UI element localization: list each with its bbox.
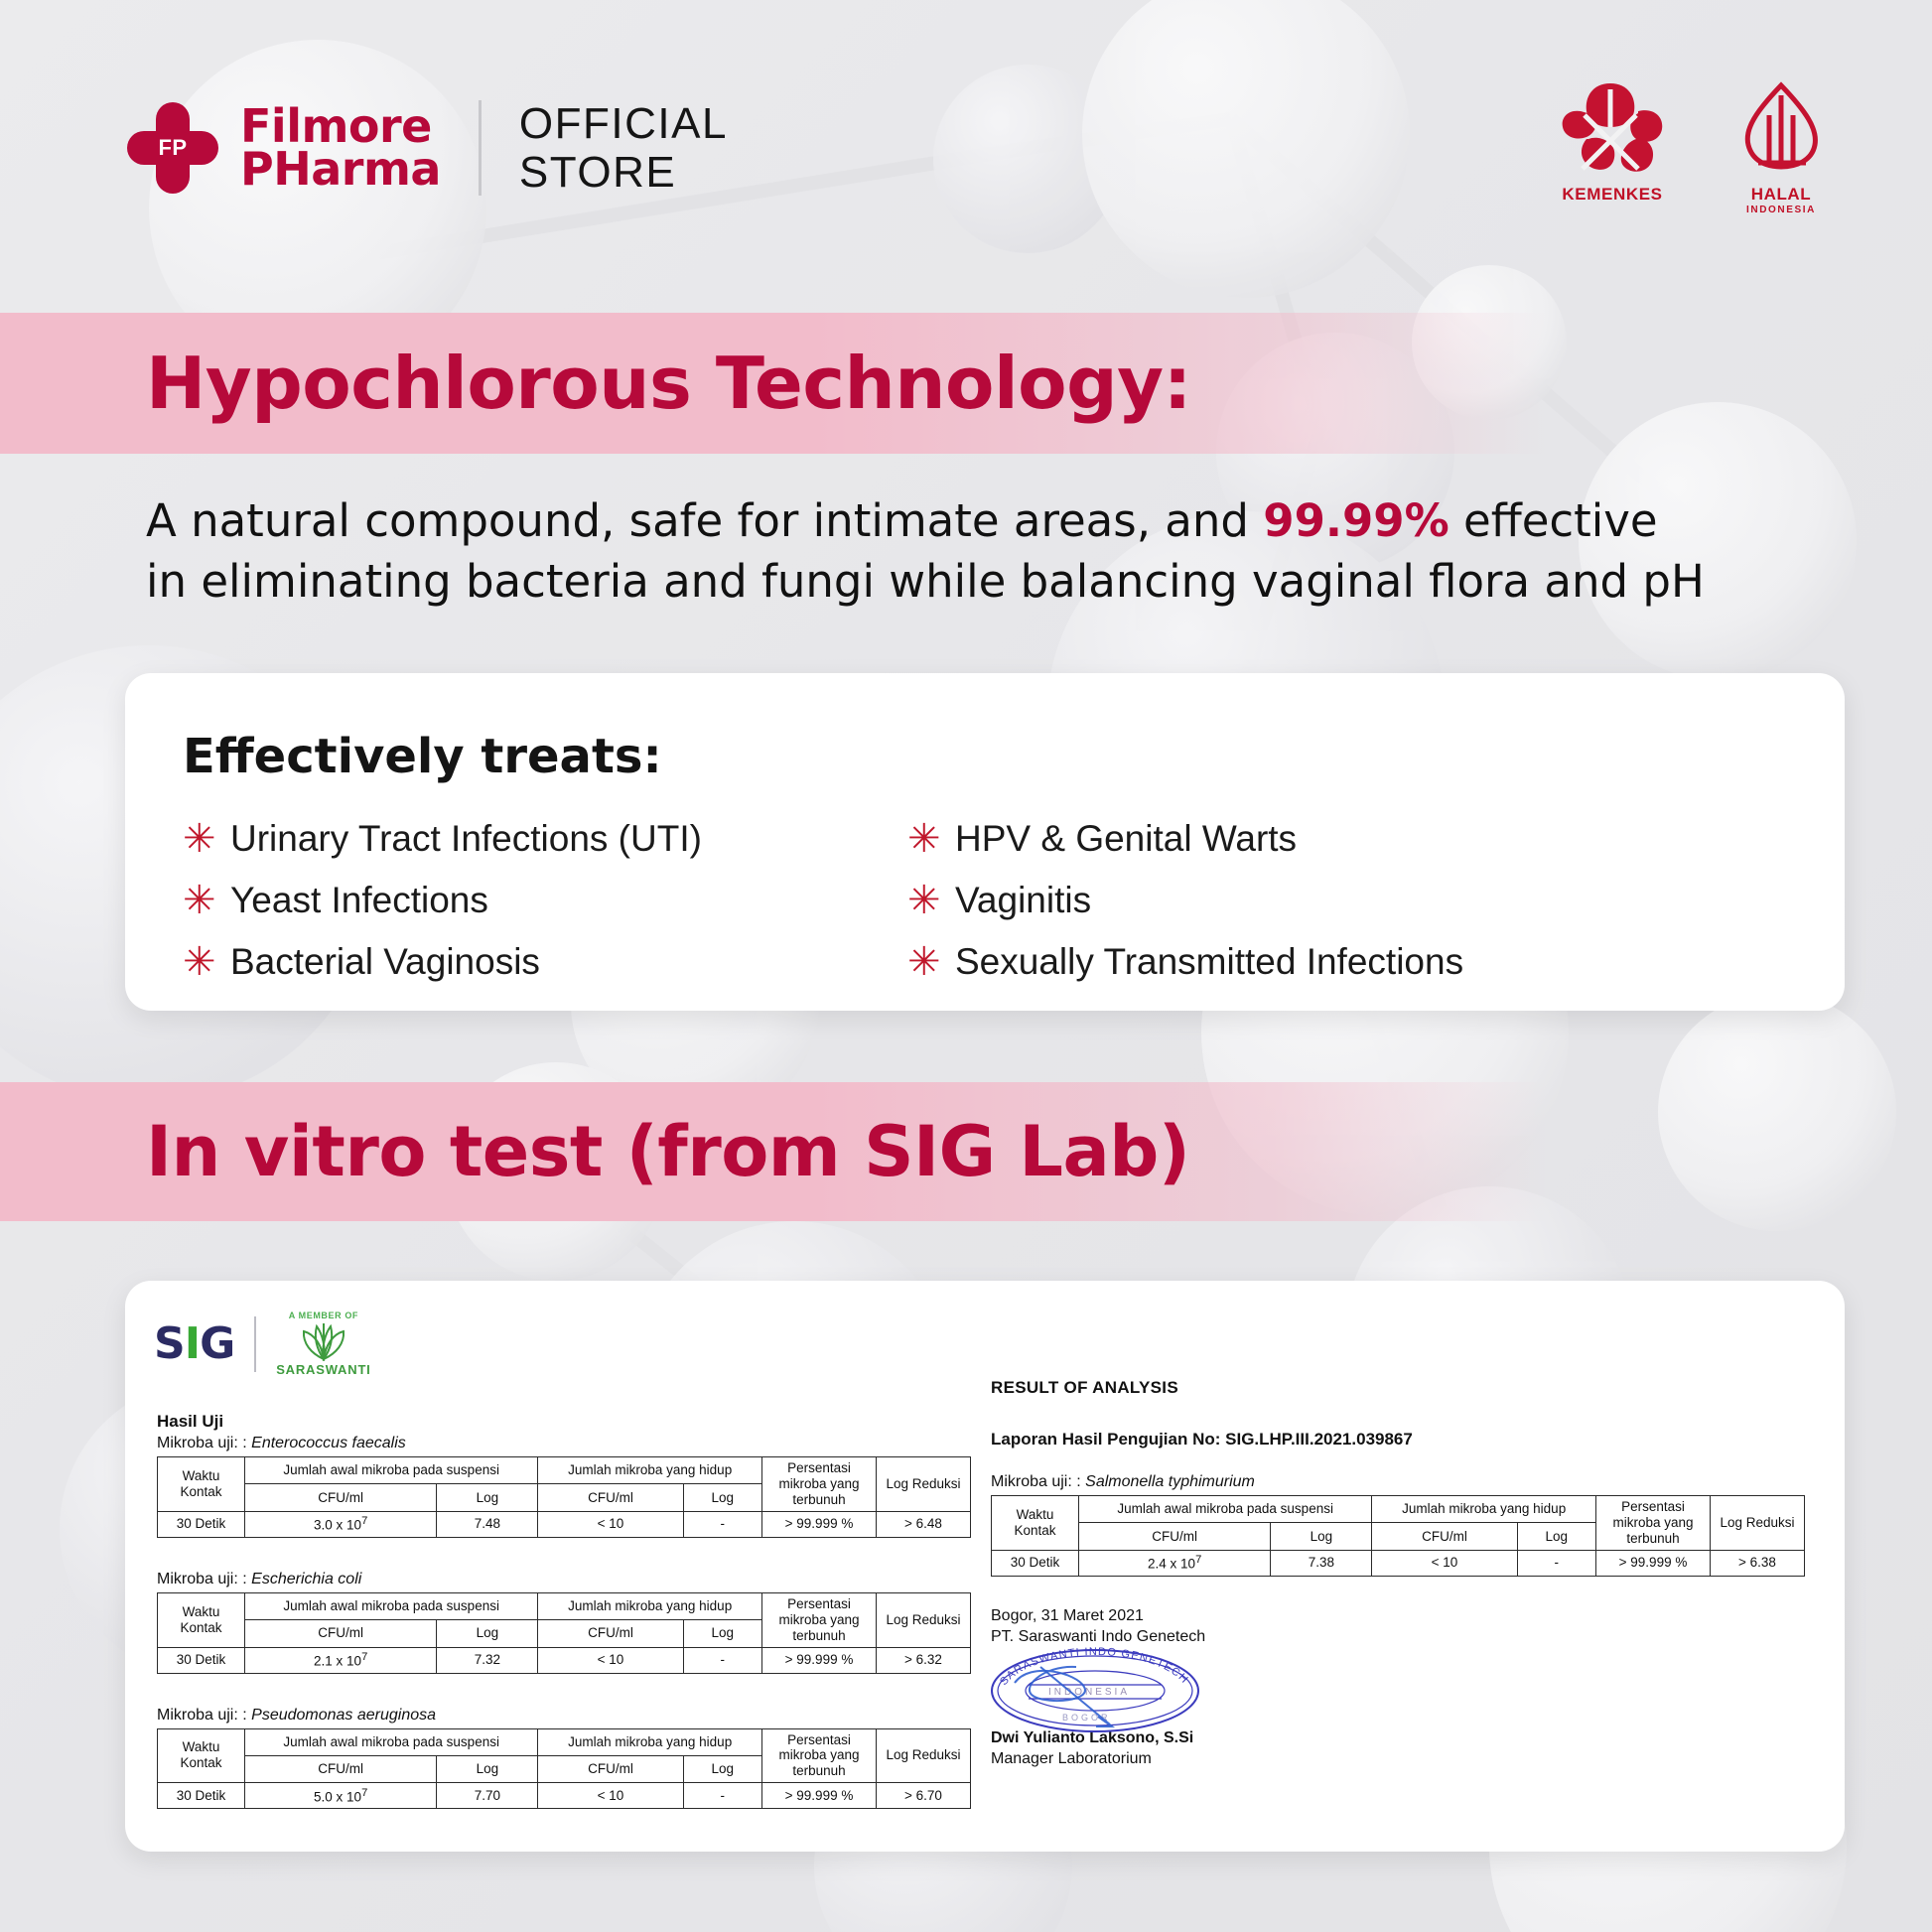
- result-of-analysis-title: RESULT OF ANALYSIS: [991, 1378, 1805, 1398]
- hypochlorous-banner-title: Hypochlorous Technology:: [146, 342, 1191, 425]
- cell-log-reduksi: > 6.48: [877, 1511, 971, 1537]
- cell-log-reduksi: > 6.32: [877, 1647, 971, 1673]
- svg-text:SARASWANTI INDO GENETECH: SARASWANTI INDO GENETECH: [998, 1646, 1190, 1688]
- th-cfu-1: CFU/ml: [245, 1484, 437, 1511]
- halal-indonesia-logo-icon: [1722, 77, 1841, 181]
- sig-wordmark-icon: SIG: [154, 1318, 234, 1369]
- th-persentasi: Persentasi mikroba yang terbunuh: [762, 1457, 877, 1512]
- cert-halal: HALAL INDONESIA: [1722, 77, 1841, 215]
- intro-text-part1: A natural compound, safe for intimate ar…: [146, 494, 1263, 547]
- cell-cfu-1-value: 2.1 x 10: [314, 1653, 361, 1668]
- mikroba-uji-label-3: Mikroba uji: : Pseudomonas aeruginosa: [157, 1707, 971, 1725]
- th-jumlah-awal: Jumlah awal mikroba pada suspensi: [245, 1728, 538, 1755]
- treat-item-label: Bacterial Vaginosis: [230, 941, 540, 983]
- th-log-1: Log: [437, 1620, 538, 1647]
- treat-item-label: Yeast Infections: [230, 880, 488, 921]
- th-cfu-1: CFU/ml: [245, 1620, 437, 1647]
- report-number: Laporan Hasil Pengujian No: SIG.LHP.III.…: [991, 1430, 1805, 1449]
- lab-report-right-column: RESULT OF ANALYSIS Laporan Hasil Penguji…: [991, 1378, 1805, 1770]
- th-jumlah-awal: Jumlah awal mikroba pada suspensi: [245, 1592, 538, 1619]
- signature-block: Bogor, 31 Maret 2021 PT. Saraswanti Indo…: [991, 1606, 1805, 1770]
- th-log-reduksi: Log Reduksi: [1711, 1496, 1805, 1551]
- th-waktu-kontak: Waktu Kontak: [158, 1592, 245, 1647]
- intro-text-part2: effective: [1449, 494, 1658, 547]
- hypochlorous-banner: Hypochlorous Technology:: [0, 313, 1932, 454]
- th-log-2: Log: [683, 1484, 761, 1511]
- cell-log-2: -: [683, 1647, 761, 1673]
- th-cfu-1: CFU/ml: [1079, 1523, 1271, 1550]
- effectively-treats-card: Effectively treats: ✳ Urinary Tract Infe…: [125, 673, 1845, 1011]
- mikroba-prefix: Mikroba uji: :: [157, 1707, 251, 1724]
- filmore-pharma-cross-logo-icon: FP: [127, 102, 218, 194]
- cell-waktu: 30 Detik: [158, 1783, 245, 1809]
- th-log-1: Log: [437, 1755, 538, 1782]
- th-jumlah-hidup: Jumlah mikroba yang hidup: [538, 1457, 762, 1484]
- brand-wordmark: Filmore PHarma: [240, 105, 441, 192]
- table-header-row: Waktu Kontak Jumlah awal mikroba pada su…: [158, 1457, 971, 1484]
- cert-halal-caption: HALAL: [1722, 185, 1841, 205]
- treat-item-label: Sexually Transmitted Infections: [955, 941, 1463, 983]
- table-header-row: Waktu Kontak Jumlah awal mikroba pada su…: [992, 1496, 1805, 1523]
- th-jumlah-awal: Jumlah awal mikroba pada suspensi: [1079, 1496, 1372, 1523]
- brand-divider: [479, 100, 482, 196]
- cell-cfu-1-exponent: 7: [361, 1515, 367, 1527]
- cell-persentasi: > 99.999 %: [762, 1511, 877, 1537]
- organism-name: Pseudomonas aeruginosa: [251, 1707, 436, 1724]
- mikroba-prefix: Mikroba uji: :: [991, 1473, 1085, 1490]
- cell-persentasi: > 99.999 %: [762, 1647, 877, 1673]
- fp-monogram-text: FP: [127, 102, 218, 194]
- mikroba-uji-label-1: Mikroba uji: : Enterococcus faecalis: [157, 1435, 971, 1452]
- th-jumlah-hidup: Jumlah mikroba yang hidup: [1372, 1496, 1596, 1523]
- asterisk-icon: ✳: [907, 819, 937, 859]
- cert-halal-subcaption: INDONESIA: [1722, 205, 1841, 215]
- th-log-2: Log: [683, 1620, 761, 1647]
- treat-item: ✳ Sexually Transmitted Infections: [907, 941, 1845, 983]
- asterisk-icon: ✳: [183, 942, 212, 982]
- table-row: 30 Detik 2.4 x 107 7.38 < 10 - > 99.999 …: [992, 1550, 1805, 1576]
- cell-waktu: 30 Detik: [992, 1550, 1079, 1576]
- lab-table-pseudomonas: Waktu Kontak Jumlah awal mikroba pada su…: [157, 1728, 971, 1810]
- hasil-uji-heading: Hasil Uji: [157, 1412, 971, 1432]
- mikroba-uji-label-4: Mikroba uji: : Salmonella typhimurium: [991, 1473, 1805, 1491]
- cell-persentasi: > 99.999 %: [762, 1783, 877, 1809]
- th-log-reduksi: Log Reduksi: [877, 1728, 971, 1783]
- table-header-row: Waktu Kontak Jumlah awal mikroba pada su…: [158, 1592, 971, 1619]
- mikroba-uji-label-2: Mikroba uji: : Escherichia coli: [157, 1571, 971, 1588]
- th-cfu-1: CFU/ml: [245, 1755, 437, 1782]
- intro-line-2: in eliminating bacteria and fungi while …: [146, 552, 1794, 613]
- saraswanti-name-label: SARASWANTI: [276, 1362, 370, 1377]
- intro-highlight-percent: 99.99%: [1263, 494, 1449, 547]
- th-log-1: Log: [1271, 1523, 1372, 1550]
- asterisk-icon: ✳: [907, 881, 937, 920]
- asterisk-icon: ✳: [183, 881, 212, 920]
- saraswanti-lockup: A MEMBER OF SARASWANTI: [276, 1311, 370, 1377]
- lab-table-enterococcus: Waktu Kontak Jumlah awal mikroba pada su…: [157, 1456, 971, 1538]
- table-gap: [157, 1538, 971, 1568]
- th-waktu-kontak: Waktu Kontak: [992, 1496, 1079, 1551]
- table-row: 30 Detik 2.1 x 107 7.32 < 10 - > 99.999 …: [158, 1647, 971, 1673]
- sig-saraswanti-logo: SIG A MEMBER OF SARASWANTI: [154, 1311, 371, 1377]
- in-vitro-test-banner-title: In vitro test (from SIG Lab): [146, 1111, 1189, 1192]
- cell-cfu-1: 3.0 x 107: [245, 1511, 437, 1537]
- official-line-1: OFFICIAL: [519, 99, 728, 148]
- asterisk-icon: ✳: [183, 819, 212, 859]
- cell-log-2: -: [1517, 1550, 1595, 1576]
- th-cfu-2: CFU/ml: [538, 1484, 683, 1511]
- treat-item-label: Vaginitis: [955, 880, 1091, 921]
- th-cfu-2: CFU/ml: [538, 1755, 683, 1782]
- intro-line-1: A natural compound, safe for intimate ar…: [146, 491, 1794, 552]
- effectively-treats-heading: Effectively treats:: [183, 729, 1845, 784]
- th-log-2: Log: [683, 1755, 761, 1782]
- cell-cfu-2: < 10: [538, 1783, 683, 1809]
- treat-item: ✳ Bacterial Vaginosis: [183, 941, 907, 983]
- treat-item-label: HPV & Genital Warts: [955, 818, 1297, 860]
- th-jumlah-hidup: Jumlah mikroba yang hidup: [538, 1728, 762, 1755]
- cell-cfu-1: 2.4 x 107: [1079, 1550, 1271, 1576]
- mikroba-prefix: Mikroba uji: :: [157, 1571, 251, 1587]
- th-cfu-2: CFU/ml: [1372, 1523, 1517, 1550]
- cell-cfu-1: 5.0 x 107: [245, 1783, 437, 1809]
- sig-logo-divider: [254, 1316, 256, 1372]
- cell-waktu: 30 Detik: [158, 1647, 245, 1673]
- asterisk-icon: ✳: [907, 942, 937, 982]
- treat-item: ✳ Yeast Infections: [183, 880, 907, 921]
- th-log-reduksi: Log Reduksi: [877, 1592, 971, 1647]
- lab-table-salmonella: Waktu Kontak Jumlah awal mikroba pada su…: [991, 1495, 1805, 1577]
- mikroba-prefix: Mikroba uji: :: [157, 1435, 251, 1451]
- cell-log-1: 7.70: [437, 1783, 538, 1809]
- th-waktu-kontak: Waktu Kontak: [158, 1728, 245, 1783]
- cell-persentasi: > 99.999 %: [1596, 1550, 1711, 1576]
- cell-log-reduksi: > 6.70: [877, 1783, 971, 1809]
- cell-cfu-2: < 10: [1372, 1550, 1517, 1576]
- th-persentasi: Persentasi mikroba yang terbunuh: [762, 1592, 877, 1647]
- sig-wordmark-text: SIG: [154, 1318, 234, 1369]
- organism-name: Salmonella typhimurium: [1085, 1473, 1255, 1490]
- table-gap: [157, 1674, 971, 1704]
- th-persentasi: Persentasi mikroba yang terbunuh: [762, 1728, 877, 1783]
- table-header-row: Waktu Kontak Jumlah awal mikroba pada su…: [158, 1728, 971, 1755]
- svg-text:INDONESIA: INDONESIA: [1048, 1687, 1130, 1698]
- official-line-2: STORE: [519, 148, 728, 197]
- cell-cfu-1-exponent: 7: [361, 1651, 367, 1663]
- brand-line-2: PHarma: [240, 148, 441, 192]
- cell-cfu-1-value: 2.4 x 10: [1148, 1557, 1195, 1572]
- cell-cfu-1-value: 5.0 x 10: [314, 1789, 361, 1804]
- treat-item: ✳ Vaginitis: [907, 880, 1845, 921]
- cell-cfu-1: 2.1 x 107: [245, 1647, 437, 1673]
- cell-cfu-1-value: 3.0 x 10: [314, 1518, 361, 1533]
- signer-role: Manager Laboratorium: [991, 1749, 1805, 1770]
- cell-log-1: 7.32: [437, 1647, 538, 1673]
- cell-cfu-2: < 10: [538, 1647, 683, 1673]
- official-store-label: OFFICIAL STORE: [519, 99, 728, 198]
- intro-paragraph: A natural compound, safe for intimate ar…: [146, 491, 1794, 613]
- cert-kemenkes-caption: KEMENKES: [1553, 185, 1672, 205]
- organism-name: Enterococcus faecalis: [251, 1435, 406, 1451]
- th-jumlah-awal: Jumlah awal mikroba pada suspensi: [245, 1457, 538, 1484]
- organism-name: Escherichia coli: [251, 1571, 361, 1587]
- th-persentasi: Persentasi mikroba yang terbunuh: [1596, 1496, 1711, 1551]
- cert-kemenkes: KEMENKES: [1553, 77, 1672, 205]
- cell-log-1: 7.38: [1271, 1550, 1372, 1576]
- brand-lockup: FP Filmore PHarma OFFICIAL STORE: [127, 99, 728, 198]
- treats-grid: ✳ Urinary Tract Infections (UTI) ✳ HPV &…: [183, 818, 1845, 983]
- cell-cfu-1-exponent: 7: [1195, 1554, 1201, 1566]
- lab-report-left-column: Hasil Uji Mikroba uji: : Enterococcus fa…: [157, 1412, 971, 1809]
- saraswanti-member-of-label: A MEMBER OF: [276, 1311, 370, 1320]
- saraswanti-leaf-icon: [276, 1320, 370, 1362]
- table-row: 30 Detik 5.0 x 107 7.70 < 10 - > 99.999 …: [158, 1783, 971, 1809]
- cell-cfu-1-exponent: 7: [361, 1787, 367, 1799]
- lab-table-escherichia: Waktu Kontak Jumlah awal mikroba pada su…: [157, 1592, 971, 1674]
- kemenkes-logo-icon: [1553, 77, 1672, 181]
- table-row: 30 Detik 3.0 x 107 7.48 < 10 - > 99.999 …: [158, 1511, 971, 1537]
- th-log-2: Log: [1517, 1523, 1595, 1550]
- treat-item: ✳ Urinary Tract Infections (UTI): [183, 818, 907, 860]
- cell-log-1: 7.48: [437, 1511, 538, 1537]
- cell-cfu-2: < 10: [538, 1511, 683, 1537]
- th-log-1: Log: [437, 1484, 538, 1511]
- cell-log-reduksi: > 6.38: [1711, 1550, 1805, 1576]
- cell-log-2: -: [683, 1783, 761, 1809]
- certification-logos: KEMENKES HALAL INDONESIA: [1553, 77, 1841, 215]
- th-waktu-kontak: Waktu Kontak: [158, 1457, 245, 1512]
- place-and-date: Bogor, 31 Maret 2021: [991, 1606, 1805, 1627]
- th-jumlah-hidup: Jumlah mikroba yang hidup: [538, 1592, 762, 1619]
- in-vitro-test-banner: In vitro test (from SIG Lab): [0, 1082, 1932, 1221]
- th-log-reduksi: Log Reduksi: [877, 1457, 971, 1512]
- th-cfu-2: CFU/ml: [538, 1620, 683, 1647]
- cell-log-2: -: [683, 1511, 761, 1537]
- treat-item-label: Urinary Tract Infections (UTI): [230, 818, 702, 860]
- company-stamp-icon: SARASWANTI INDO GENETECH INDONESIA BOGOR: [981, 1643, 1209, 1728]
- treat-item: ✳ HPV & Genital Warts: [907, 818, 1845, 860]
- page-header: FP Filmore PHarma OFFICIAL STORE: [0, 0, 1932, 293]
- cell-waktu: 30 Detik: [158, 1511, 245, 1537]
